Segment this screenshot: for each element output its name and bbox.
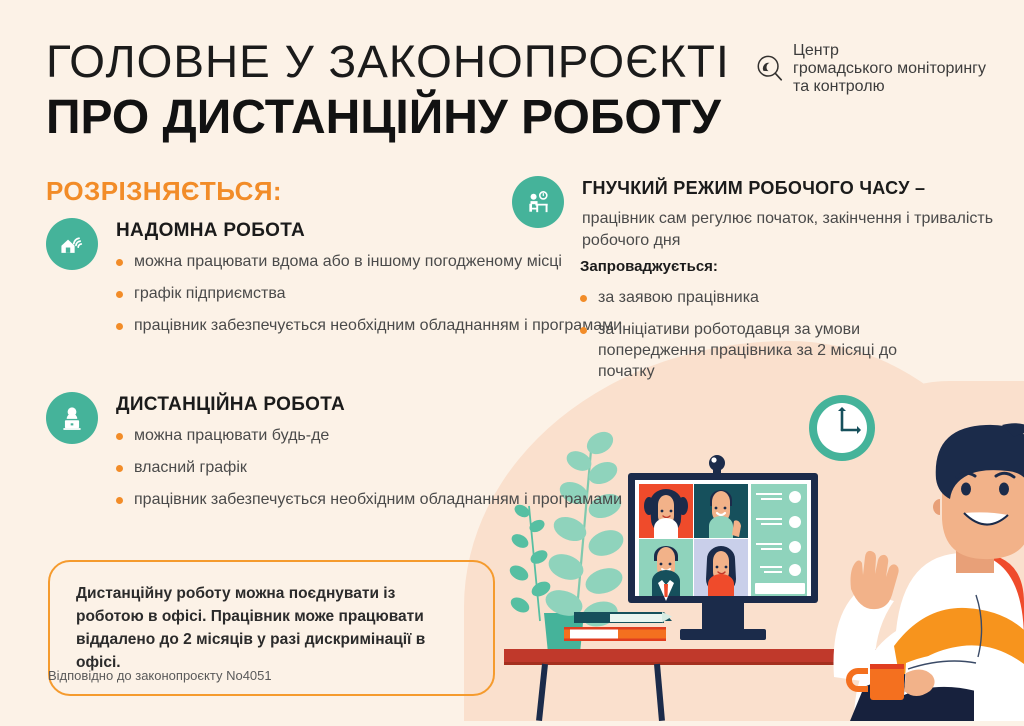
introduction-list: за заявою працівника за ініціативи робот… [580,287,910,382]
block-flexible-hours: ГНУЧКИЙ РЕЖИМ РОБОЧОГО ЧАСУ – працівник … [512,176,1024,252]
list-item: працівник забезпечується необхідним обла… [116,315,622,336]
person-desk-clock-icon [512,176,564,228]
callout-text: Дистанційну роботу можна поєднувати із р… [76,582,467,674]
list-item: можна працювати будь-де [116,425,622,446]
block-flexible-hours-subtitle: працівник сам регулює початок, закінченн… [582,208,1024,252]
block-home-work-list: можна працювати вдома або в іншому погод… [116,251,622,336]
logo-text: Центр громадського моніторингу та контро… [793,42,986,96]
block-flexible-hours-heading: ГНУЧКИЙ РЕЖИМ РОБОЧОГО ЧАСУ – [582,178,1024,199]
list-item: можна працювати вдома або в іншому погод… [116,251,622,272]
wall-clock-icon [809,395,875,461]
section-label-differs: РОЗРІЗНЯЄТЬСЯ: [46,176,282,207]
logo-text-line1: Центр [793,42,986,60]
block-remote-work: ДИСТАНЦІЙНА РОБОТА можна працювати будь-… [46,392,622,510]
logo-text-line3: та контролю [793,78,986,96]
introduction-title: Запроваджується: [580,258,910,275]
list-item: за ініціативи роботодавця за умови попер… [580,319,910,382]
organization-logo: Центр громадського моніторингу та контро… [755,42,986,96]
video-call-sidebar [751,484,807,596]
person-laptop-icon [46,392,98,444]
logo-text-line2: громадського моніторингу [793,60,986,78]
waving-man [834,423,1024,721]
page-title-line2: ПРО ДИСТАНЦІЙНУ РОБОТУ [46,90,721,146]
introduction-group: Запроваджується: за заявою працівника за… [580,258,910,382]
block-remote-work-list: можна працювати будь-де власний графік п… [116,425,622,510]
magnifier-icon [755,54,785,84]
page-header: ГОЛОВНЕ У ЗАКОНОПРОЄКТІ ПРО ДИСТАНЦІЙНУ … [46,36,721,146]
list-item: за заявою працівника [580,287,910,308]
footnote-source: Відповідно до законопроєкту No4051 [48,668,272,683]
list-item: власний графік [116,457,622,478]
list-item: графік підприємства [116,283,622,304]
list-item: працівник забезпечується необхідним обла… [116,489,622,510]
block-remote-work-heading: ДИСТАНЦІЙНА РОБОТА [116,394,622,416]
house-wifi-icon [46,218,98,270]
page-title-line1: ГОЛОВНЕ У ЗАКОНОПРОЄКТІ [46,36,734,88]
